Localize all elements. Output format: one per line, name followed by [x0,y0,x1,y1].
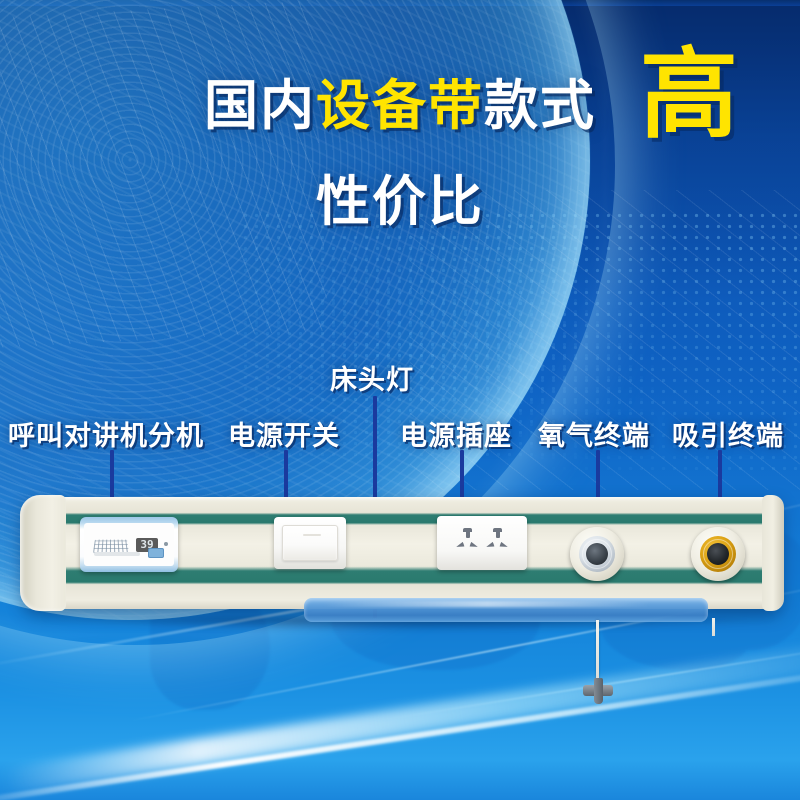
suction-terminal-outlet[interactable] [691,527,745,581]
hanging-cord [596,620,599,682]
socket-pin-right-icon [469,542,478,549]
callout-label-suction-terminal: 吸引终端 [672,414,784,453]
rocker-mark [303,534,321,536]
socket-right[interactable] [483,528,513,558]
socket-pin-vertical-icon [466,529,470,538]
adapter-stem [594,678,603,704]
intercom-slot [94,552,140,556]
callout-label-intercom: 呼叫对讲机分机 [8,414,204,453]
headline-big-character: 高 [640,46,738,144]
power-outlet-plate[interactable] [437,516,527,570]
panel-rail-gloss [322,601,652,607]
socket-pin-left-icon [485,542,494,549]
socket-pin-right-icon [499,542,508,549]
callout-label-power-outlet: 电源插座 [400,414,512,453]
callout-label-oxygen-terminal: 氧气终端 [538,414,650,453]
hanging-cord-short [712,618,715,636]
intercom-face: 39 [84,523,174,566]
socket-pin-left-icon [455,542,464,549]
panel-right-end-cap [762,495,784,611]
oxygen-terminal-outlet[interactable] [570,527,624,581]
power-switch-plate[interactable] [274,517,346,569]
panel-left-end-cap [20,495,66,611]
callout-label-power-switch: 电源开关 [228,414,340,453]
terminal-port-icon [707,543,729,565]
indicator-led-icon [164,542,168,546]
intercom-call-button[interactable] [148,548,164,558]
callout-label-bed-lamp: 床头灯 [330,358,414,397]
hanging-adapter-fitting [583,678,613,704]
rocker-switch[interactable] [282,525,338,561]
medical-bed-head-unit: 39 [22,497,782,627]
socket-left[interactable] [453,528,483,558]
socket-pin-vertical-icon [496,529,500,538]
nurse-call-intercom-unit[interactable]: 39 [80,517,178,572]
terminal-port-icon [586,543,608,565]
